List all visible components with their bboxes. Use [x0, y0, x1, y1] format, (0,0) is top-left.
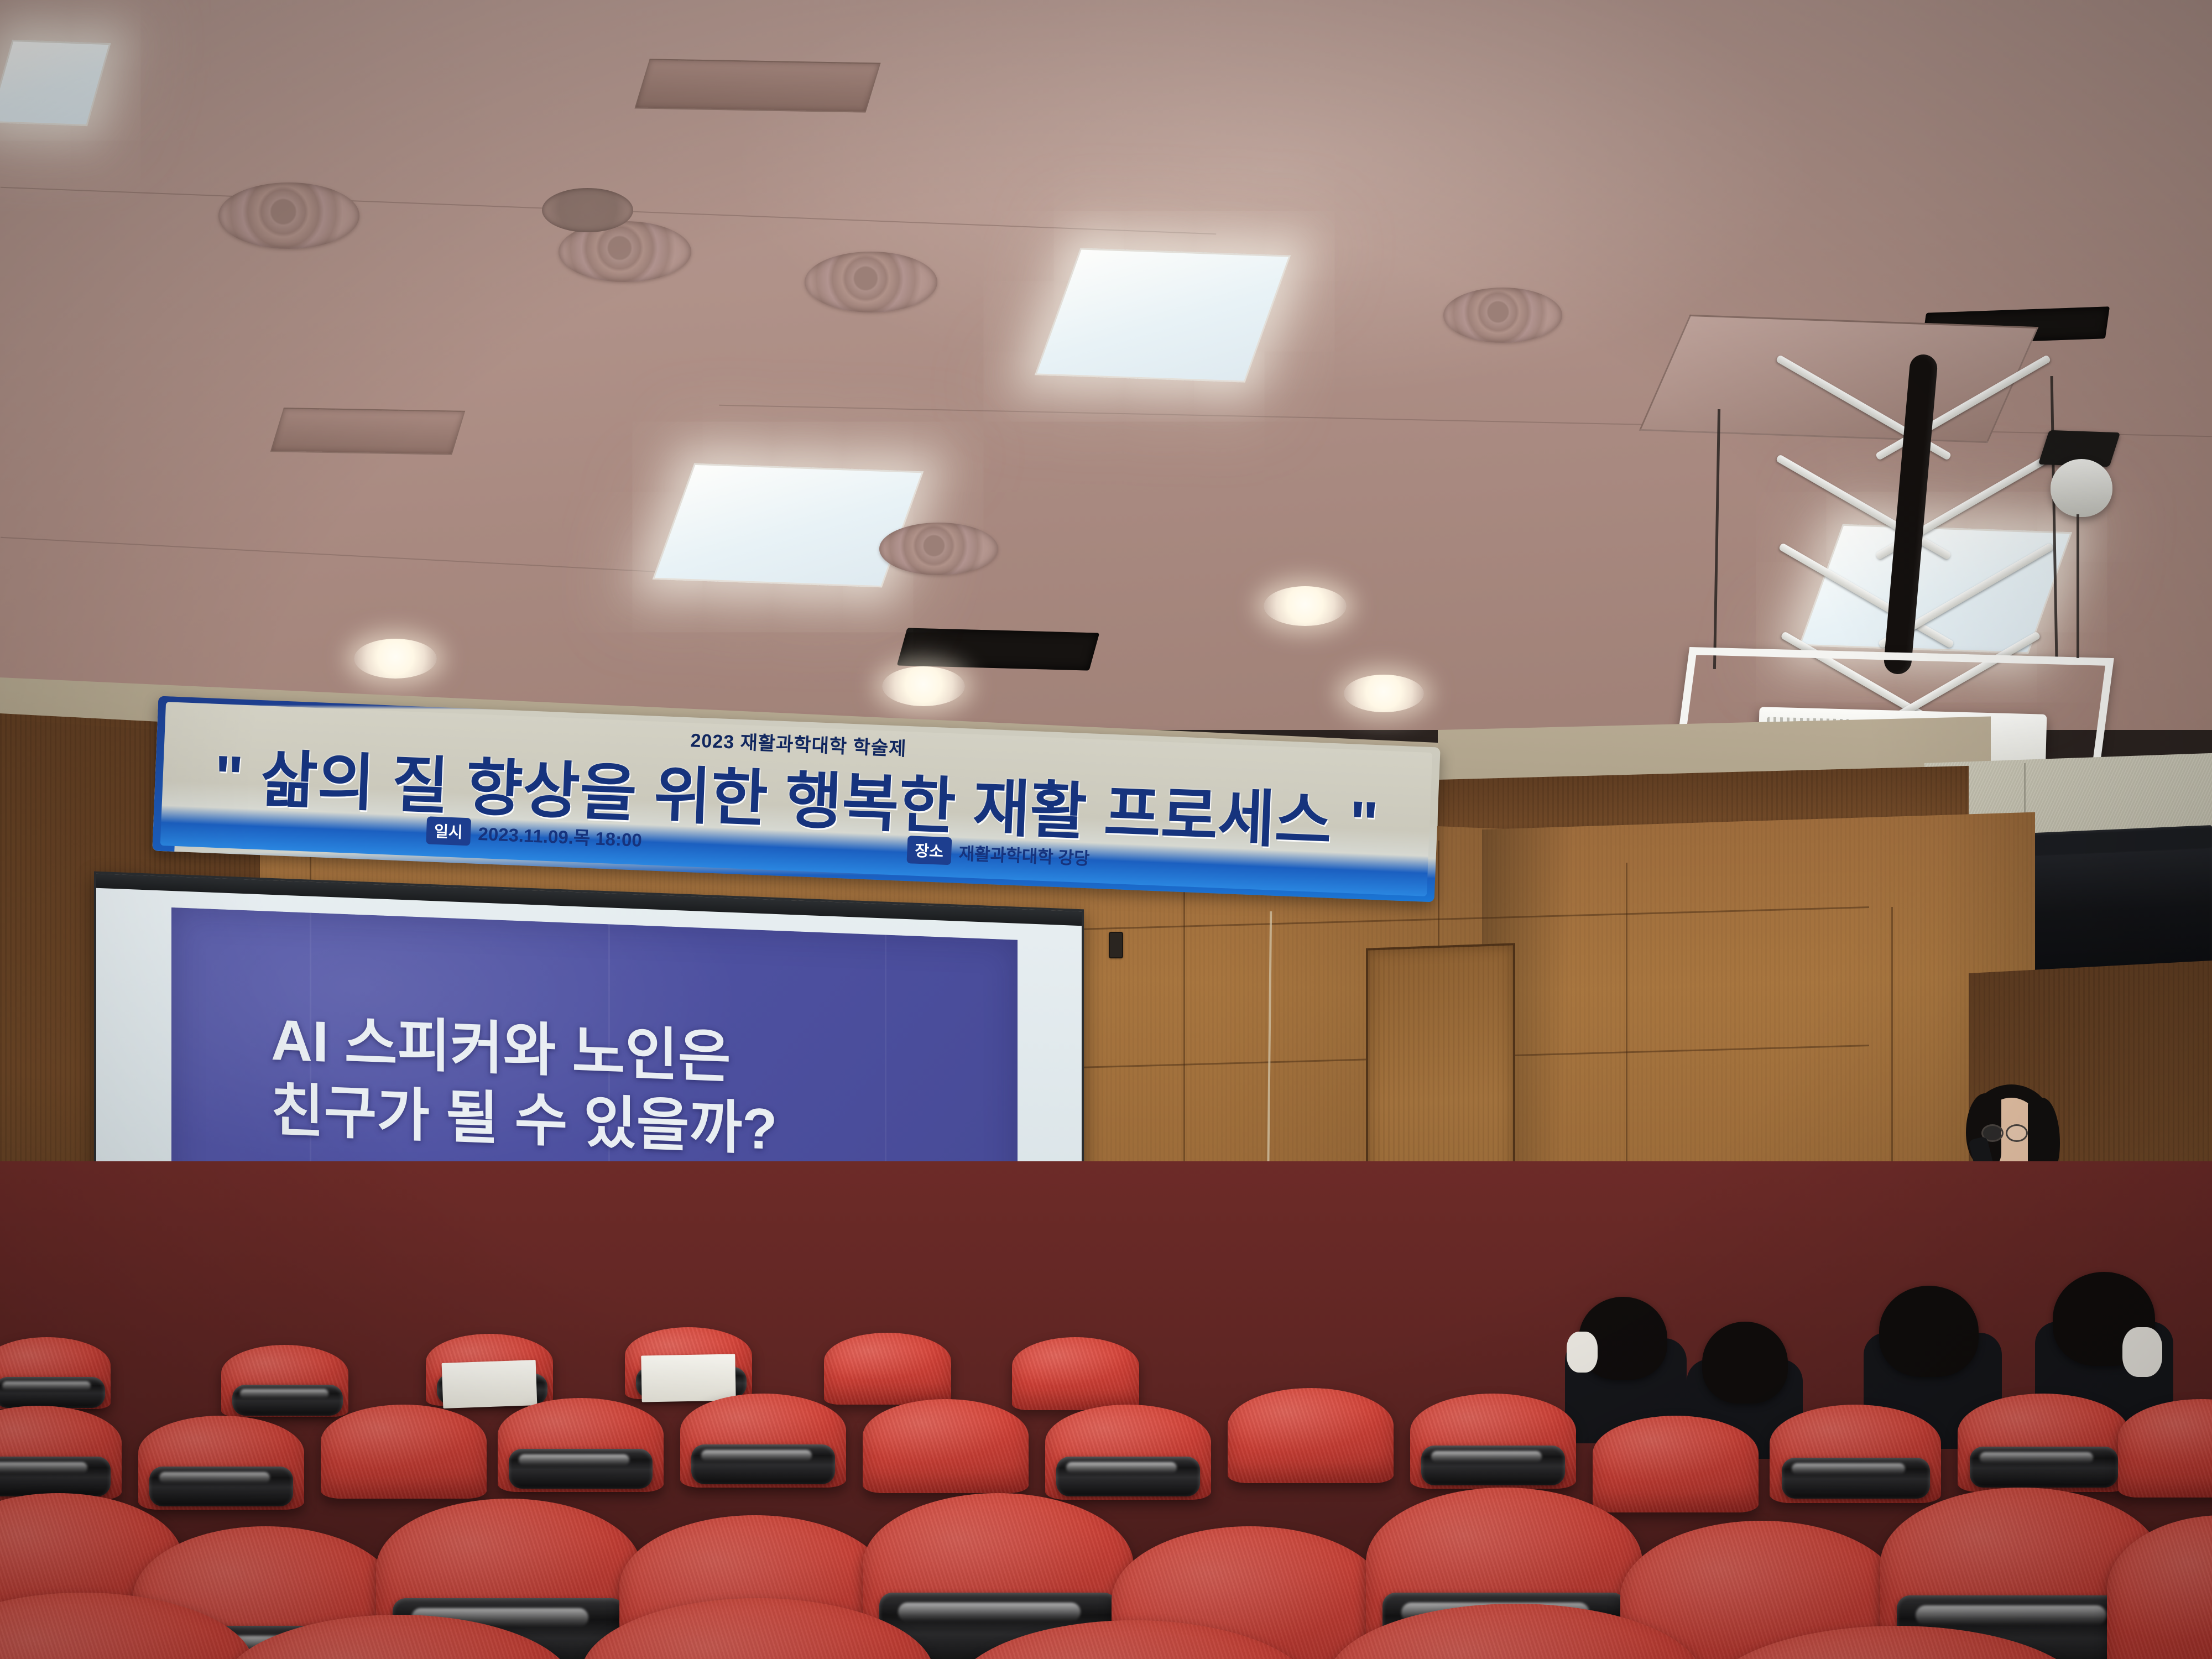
seat [824, 1333, 951, 1405]
auditorium-photo: 2023 재활과학대학 학술제 " 삶의 질 향상을 위한 행복한 재활 프로세… [0, 0, 2212, 1659]
air-diffuser [1443, 288, 1562, 343]
banner-date-value: 2023.11.09.목 18:00 [478, 819, 643, 852]
seat-headrest [1056, 1457, 1200, 1496]
ceiling-hatch [1639, 315, 2039, 443]
ceiling-vent [634, 59, 880, 112]
seat-headrest [149, 1467, 293, 1506]
seat [1012, 1337, 1139, 1410]
face-mask [1567, 1332, 1598, 1373]
seat [863, 1399, 1029, 1493]
wall-mount-bracket [1109, 932, 1123, 958]
seat [321, 1405, 487, 1499]
seat-headrest [0, 1457, 111, 1496]
seat-headrest [1970, 1447, 2118, 1488]
air-diffuser [218, 182, 359, 249]
ceiling-vent [270, 408, 466, 455]
scissor-arm [1778, 542, 1955, 649]
ceiling-speaker-grille [897, 628, 1099, 670]
recessed-downlight [354, 639, 437, 679]
audience-head [1879, 1286, 1979, 1377]
suspension-cable [1713, 409, 1720, 669]
seat-handout [442, 1360, 538, 1408]
wall-speaker [2013, 836, 2212, 972]
seat-handout [641, 1354, 735, 1402]
glasses-icon [2006, 1124, 2028, 1142]
seat-headrest [0, 1377, 105, 1408]
ceiling-light-panel [653, 463, 924, 588]
face-mask [2122, 1327, 2162, 1377]
ceiling-camera [2051, 459, 2112, 517]
air-diffuser [879, 523, 998, 575]
seat-headrest [1782, 1458, 1930, 1499]
suspension-cable [2051, 376, 2058, 658]
seat [1593, 1416, 1759, 1512]
recessed-downlight [1264, 586, 1347, 626]
banner-date-tag: 일시 [426, 816, 471, 846]
banner-place-tag: 장소 [907, 836, 952, 865]
air-diffuser [805, 252, 937, 312]
seat-headrest [232, 1385, 343, 1416]
suspension-cable [2077, 514, 2079, 658]
seat-headrest [691, 1444, 835, 1484]
seat [1228, 1388, 1394, 1483]
slide-title: AI 스피커와 노인은 친구가 될 수 있을까? [271, 1005, 778, 1165]
audience-head [1702, 1322, 1788, 1404]
recessed-downlight [882, 666, 965, 706]
seat-headrest [1421, 1446, 1565, 1485]
recessed-downlight [1344, 675, 1424, 712]
recessed-downlight-off [542, 188, 633, 232]
seat-headrest [509, 1449, 653, 1489]
banner-place-value: 재활과학대학 강당 [958, 839, 1090, 869]
